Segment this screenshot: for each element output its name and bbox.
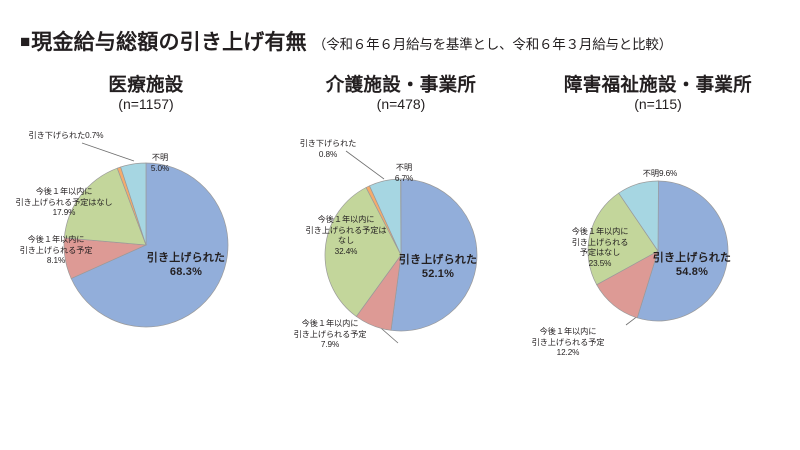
pie-label-percent: 5.0% [151,164,169,175]
page-title: ■ 現金給与総額の引き上げ有無 （令和６年６月給与を基準とし、令和６年３月給与と… [20,26,672,56]
chart-panel-medical: 医療施設(n=1157)引き上げられた68.3%今後１年以内に引き上げられる予定… [8,74,284,434]
pie-label-text: 引き上げられる予定 [294,330,367,339]
pie-label-percent: 6.7% [395,174,413,185]
chart-title: 介護施設・事業所 [270,74,532,95]
pie-label-unknown: 不明9.6% [643,169,677,180]
pie-label-text: 今後１年以内に [302,319,359,328]
pie-label-lowered: 引き下げられた0.7% [29,131,104,142]
pie-label-percent: 7.9% [294,340,367,351]
pie-label-percent: 8.1% [20,256,93,267]
pie-label-text: 今後１年以内に [572,227,629,236]
pie-label-percent: 52.1% [399,267,477,281]
pie-label-text: 不明 [152,153,168,162]
chart-title: 障害福祉施設・事業所 [520,74,796,95]
chart-sample-size: (n=1157) [8,96,284,113]
chart-title: 医療施設 [8,74,284,95]
pie-label-text: 今後１年以内に [36,187,93,196]
pie-label-planned: 今後１年以内に引き上げられる予定12.2% [532,327,605,359]
pie-chart: 引き上げられた52.1%今後１年以内に引き上げられる予定7.9%今後１年以内に引… [270,129,532,379]
pie-label-percent: 17.9% [15,208,112,219]
page-title-main: 現金給与総額の引き上げ有無 [31,26,307,56]
pie-chart: 引き上げられた54.8%今後１年以内に引き上げられる予定12.2%今後１年以内に… [520,129,796,379]
pie-label-text: 今後１年以内に [28,235,85,244]
pie-label-lowered: 引き下げられた0.8% [300,139,357,160]
slide-canvas: ■ 現金給与総額の引き上げ有無 （令和６年６月給与を基準とし、令和６年３月給与と… [0,0,800,450]
label-leader-line [82,143,134,161]
pie-label-no_plan: 今後１年以内に引き上げられる予定はなし32.4% [306,215,387,257]
pie-label-percent: 23.5% [572,259,629,270]
pie-label-percent: 12.2% [532,348,605,359]
pie-label-text: 引き上げられた [653,252,731,264]
pie-label-percent: 68.3% [147,265,225,279]
pie-label-text: 引き下げられた [300,139,357,148]
pie-label-text: なし [338,236,354,245]
pie-label-unknown: 不明6.7% [395,163,413,184]
pie-label-text: 引き上げられた [147,252,225,264]
pie-label-text: 引き上げられる予定はなし [15,198,112,207]
pie-label-planned: 今後１年以内に引き上げられる予定7.9% [294,319,367,351]
pie-label-percent: 32.4% [306,247,387,258]
pie-label-percent: 9.6% [659,169,677,178]
pie-label-planned: 今後１年以内に引き上げられる予定8.1% [20,235,93,267]
pie-label-raised: 引き上げられた52.1% [399,253,477,281]
chart-sample-size: (n=478) [270,96,532,113]
pie-label-text: 引き上げられる予定 [20,246,93,255]
pie-label-text: 今後１年以内に [540,327,597,336]
pie-label-percent: 0.7% [85,131,103,140]
pie-label-text: 不明 [396,163,412,172]
pie-label-text: 引き上げられる [572,238,629,247]
chart-sample-size: (n=115) [520,96,796,113]
pie-label-text: 引き上げられた [399,254,477,266]
pie-label-text: 予定はなし [580,248,620,257]
pie-label-no_plan: 今後１年以内に引き上げられる予定はなし17.9% [15,187,112,219]
pie-label-raised: 引き上げられた54.8% [653,251,731,279]
chart-panel-care: 介護施設・事業所(n=478)引き上げられた52.1%今後１年以内に引き上げられ… [270,74,532,434]
pie-label-raised: 引き上げられた68.3% [147,251,225,279]
pie-label-percent: 0.8% [300,150,357,161]
pie-label-text: 不明 [643,169,659,178]
pie-chart: 引き上げられた68.3%今後１年以内に引き上げられる予定8.1%今後１年以内に引… [8,125,284,375]
pie-label-text: 引き上げられる予定は [306,226,387,235]
pie-label-unknown: 不明5.0% [151,153,169,174]
page-title-sub: （令和６年６月給与を基準とし、令和６年３月給与と比較） [313,33,672,53]
pie-label-no_plan: 今後１年以内に引き上げられる予定はなし23.5% [572,227,629,269]
pie-label-percent: 54.8% [653,265,731,279]
pie-label-text: 引き上げられる予定 [532,338,605,347]
bullet-icon: ■ [20,33,30,50]
pie-label-text: 引き下げられた [29,131,86,140]
pie-label-text: 今後１年以内に [318,215,375,224]
chart-panel-disability: 障害福祉施設・事業所(n=115)引き上げられた54.8%今後１年以内に引き上げ… [520,74,796,434]
